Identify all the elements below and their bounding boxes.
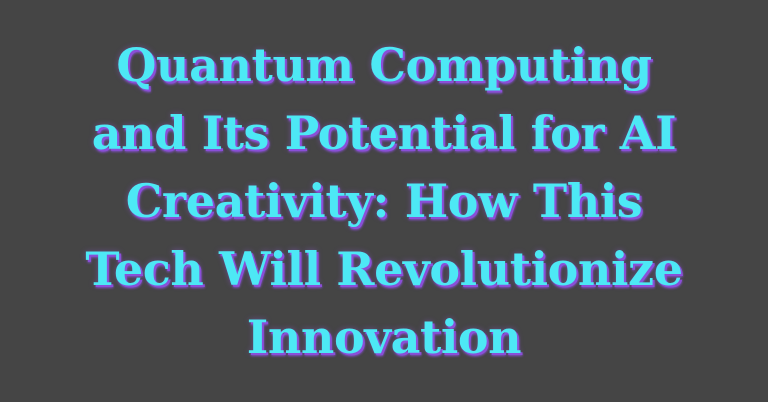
headline-line-3: Creativity: How This	[18, 167, 750, 235]
headline-line-2: and Its Potential for AI	[18, 99, 750, 167]
title-card: Quantum Computing and Its Potential for …	[0, 0, 768, 402]
headline-line-4: Tech Will Revolutionize	[18, 235, 750, 303]
headline-line-5: Innovation	[18, 303, 750, 371]
headline-line-1: Quantum Computing	[18, 31, 750, 99]
page-title: Quantum Computing and Its Potential for …	[0, 31, 768, 371]
